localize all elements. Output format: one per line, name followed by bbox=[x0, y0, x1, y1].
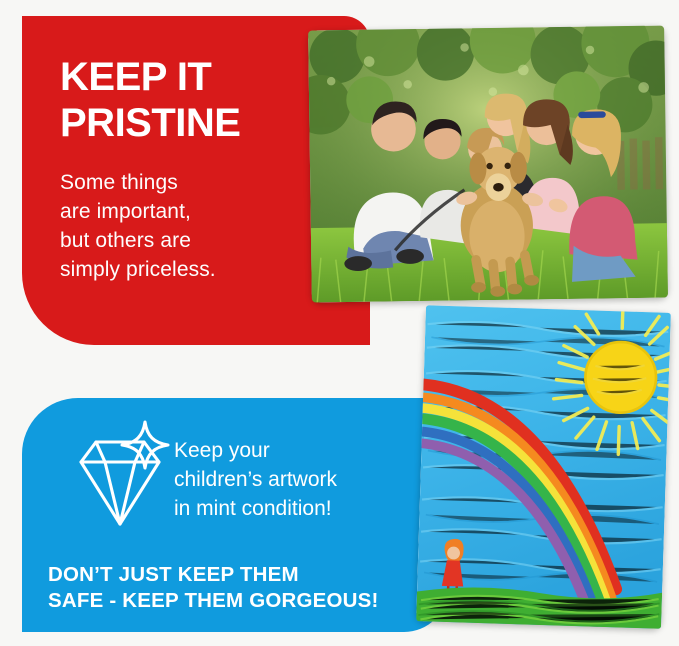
diamond-sparkle-icon bbox=[66, 420, 174, 532]
blue-panel-cta: DON’T JUST KEEP THEM SAFE - KEEP THEM GO… bbox=[48, 562, 442, 614]
family-with-dog-photo bbox=[308, 26, 668, 303]
blue-panel-body: Keep your children’s artwork in mint con… bbox=[174, 436, 434, 523]
red-panel-subtext: Some things are important, but others ar… bbox=[60, 168, 350, 284]
family-photo-image bbox=[308, 26, 668, 303]
childrens-rainbow-drawing bbox=[416, 305, 671, 629]
blue-panel: Keep your children’s artwork in mint con… bbox=[22, 398, 448, 632]
rainbow-drawing-image bbox=[416, 305, 671, 629]
infographic-canvas: KEEP IT PRISTINE Some things are importa… bbox=[0, 0, 679, 646]
